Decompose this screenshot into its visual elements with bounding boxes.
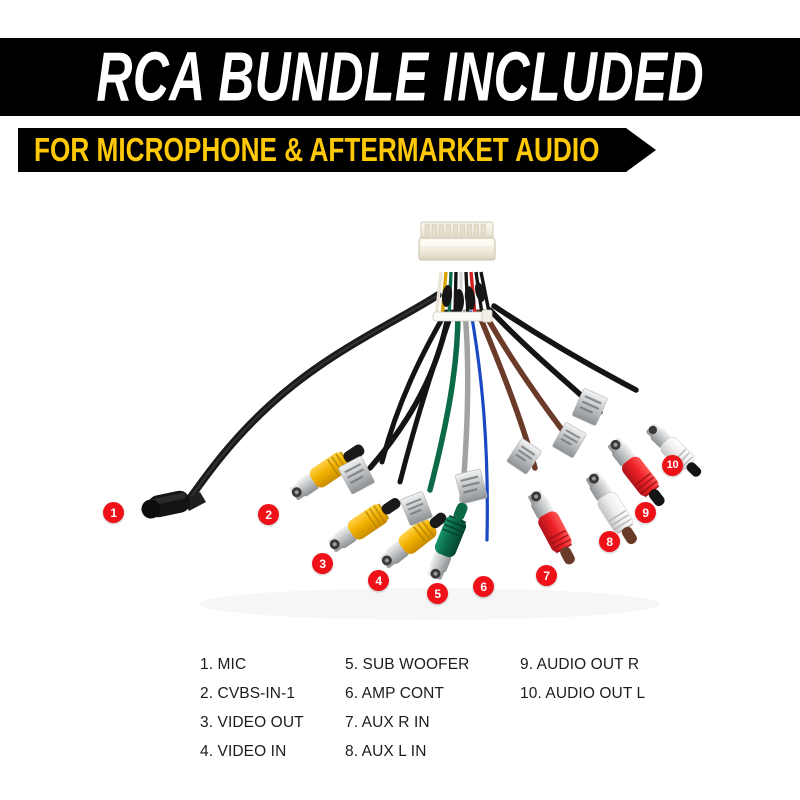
callout-badge-7: 7 xyxy=(536,565,557,586)
product-infographic-page: RCA BUNDLE INCLUDED FOR MICROPHONE & AFT… xyxy=(0,0,800,800)
callout-badge-6: 6 xyxy=(473,576,494,597)
callout-badge-8: 8 xyxy=(599,531,620,552)
callout-badge-10: 10 xyxy=(662,455,683,476)
legend-item-cvbs-in-1: 2. CVBS-IN-1 xyxy=(200,679,304,708)
callout-badge-3: 3 xyxy=(312,553,333,574)
callout-badge-9: 9 xyxy=(635,502,656,523)
legend-item-video-in: 4. VIDEO IN xyxy=(200,737,304,766)
legend-item-audio-out-l: 10. AUDIO OUT L xyxy=(520,679,645,708)
legend-item-audio-out-r: 9. AUDIO OUT R xyxy=(520,650,645,679)
legend-item-aux-l-in: 8. AUX L IN xyxy=(345,737,469,766)
legend-item-sub-woofer: 5. SUB WOOFER xyxy=(345,650,469,679)
legend-column-1: 1. MIC 2. CVBS-IN-1 3. VIDEO OUT 4. VIDE… xyxy=(200,650,304,766)
callout-badge-1: 1 xyxy=(103,502,124,523)
legend-column-2: 5. SUB WOOFER 6. AMP CONT 7. AUX R IN 8.… xyxy=(345,650,469,766)
callout-badge-5: 5 xyxy=(427,583,448,604)
legend: 1. MIC 2. CVBS-IN-1 3. VIDEO OUT 4. VIDE… xyxy=(0,650,800,770)
main-banner: RCA BUNDLE INCLUDED xyxy=(0,38,800,116)
legend-item-aux-r-in: 7. AUX R IN xyxy=(345,708,469,737)
legend-item-amp-cont: 6. AMP CONT xyxy=(345,679,469,708)
callout-badge-2: 2 xyxy=(258,504,279,525)
legend-item-mic: 1. MIC xyxy=(200,650,304,679)
white-pin-header-connector xyxy=(419,222,495,260)
legend-column-3: 9. AUDIO OUT R 10. AUDIO OUT L xyxy=(520,650,645,708)
subtitle-banner: FOR MICROPHONE & AFTERMARKET AUDIO xyxy=(18,128,656,172)
product-photo xyxy=(0,200,800,640)
legend-item-video-out: 3. VIDEO OUT xyxy=(200,708,304,737)
subtitle-banner-text: FOR MICROPHONE & AFTERMARKET AUDIO xyxy=(34,123,599,177)
main-banner-title: RCA BUNDLE INCLUDED xyxy=(96,42,704,112)
callout-badge-4: 4 xyxy=(368,570,389,591)
